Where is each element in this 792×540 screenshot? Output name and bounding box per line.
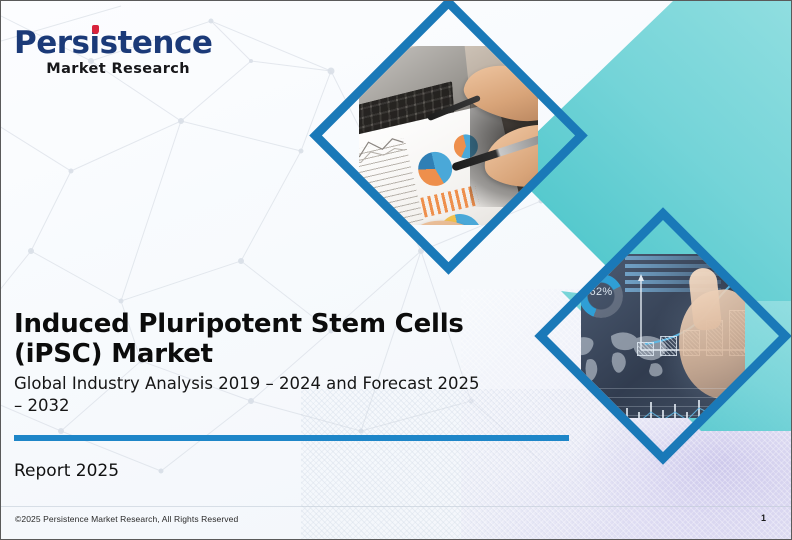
- company-logo: Persistence Market Research: [14, 28, 204, 77]
- footer-divider: [1, 506, 792, 507]
- photo-scene-desk: [359, 46, 538, 225]
- logo-wordmark: Persistence: [14, 28, 204, 59]
- report-pie-chart-a: [415, 149, 456, 190]
- digital-dashboard-photo: 62%: [581, 254, 745, 418]
- business-analysis-photo: [359, 46, 538, 225]
- photo-scene-dashboard: 62%: [581, 254, 745, 418]
- logo-accent-dot-icon: [92, 25, 99, 34]
- footer-copyright: ©2025 Persistence Market Research, All R…: [15, 514, 238, 524]
- page-title: Induced Pluripotent Stem Cells (iPSC) Ma…: [14, 309, 484, 369]
- page-subtitle: Global Industry Analysis 2019 – 2024 and…: [14, 373, 484, 416]
- accent-divider: [14, 435, 569, 441]
- logo-wordmark-text: Persistence: [14, 25, 212, 61]
- footer-page-number: 1: [761, 513, 766, 523]
- report-cover-page: 62%: [0, 0, 792, 540]
- report-year-label: Report 2025: [14, 461, 119, 481]
- progress-donut-label: 62%: [581, 286, 623, 298]
- title-block: Induced Pluripotent Stem Cells (iPSC) Ma…: [14, 309, 484, 416]
- logo-tagline: Market Research: [14, 61, 190, 77]
